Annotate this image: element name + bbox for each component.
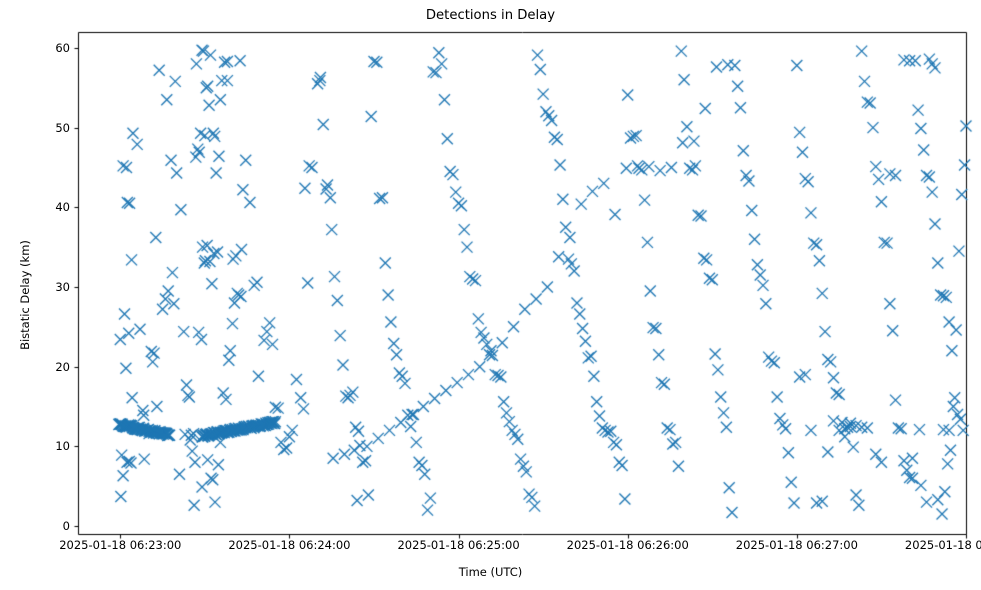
x-tick-label: 2025-01-18 06:27:00 (736, 538, 858, 552)
y-tick-label: 10 (55, 439, 70, 453)
y-tick-label: 50 (55, 121, 70, 135)
x-tick-label: 2025-01-18 06:28:00 (905, 538, 981, 552)
x-tick-label: 2025-01-18 06:24:00 (228, 538, 350, 552)
x-tick-label: 2025-01-18 06:23:00 (59, 538, 181, 552)
y-tick-label: 40 (55, 200, 70, 214)
x-tick-label: 2025-01-18 06:25:00 (397, 538, 519, 552)
matplotlib-figure: Detections in Delay Time (UTC) Bistatic … (0, 0, 981, 590)
y-tick-label: 30 (55, 280, 70, 294)
y-tick-label: 0 (63, 519, 70, 533)
x-tick-label: 2025-01-18 06:26:00 (567, 538, 689, 552)
y-tick-label: 20 (55, 360, 70, 374)
y-tick-label: 60 (55, 41, 70, 55)
scatter-plot-canvas (0, 0, 981, 590)
